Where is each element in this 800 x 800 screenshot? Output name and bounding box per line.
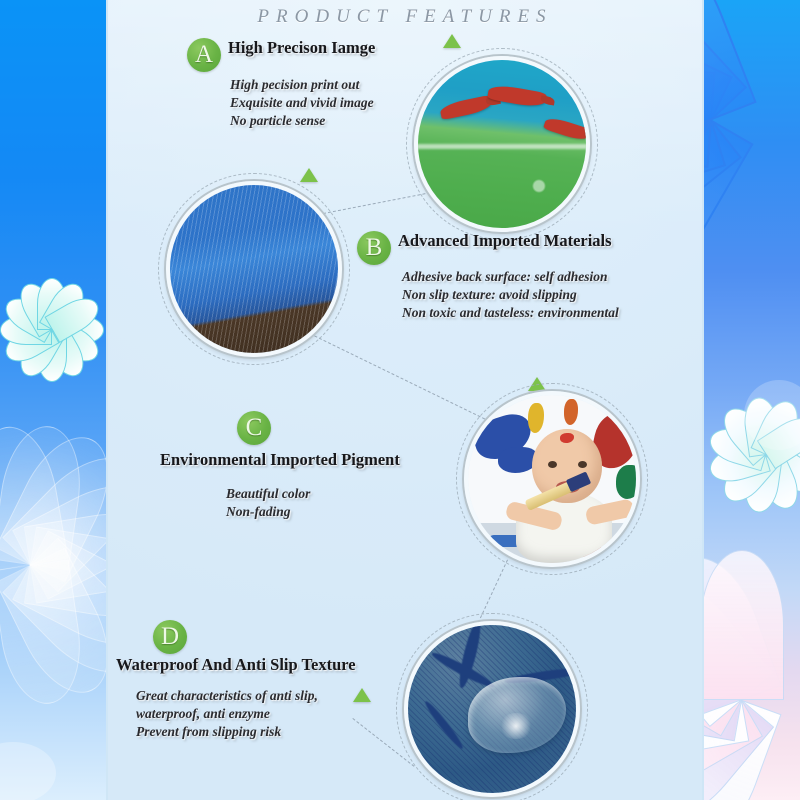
- photo-c-image: [468, 395, 636, 563]
- arrow-to-photo-b: [300, 168, 318, 182]
- arrow-to-photo-d: [353, 688, 371, 702]
- badge-c: C: [237, 411, 271, 445]
- feature-lines-a: High pecision print out Exquisite and vi…: [230, 76, 374, 130]
- feature-lines-b: Adhesive back surface: self adhesion Non…: [402, 268, 619, 322]
- photo-imported-material-fabric[interactable]: [166, 181, 342, 357]
- feature-title-a: High Precison Iamge: [228, 38, 375, 58]
- feature-title-b: Advanced Imported Materials: [398, 231, 612, 251]
- right-decorative-border: [704, 0, 800, 800]
- petal: [704, 550, 784, 700]
- content-panel: PRODUCT FEATURES A High Precison Iamge H…: [106, 0, 704, 800]
- page-title: PRODUCT FEATURES: [108, 6, 702, 28]
- arrow-to-photo-a: [443, 34, 461, 48]
- photo-a-image: [418, 60, 586, 228]
- feature-lines-c: Beautiful color Non-fading: [226, 485, 310, 521]
- badge-b: B: [357, 231, 391, 265]
- photo-baby-painting[interactable]: [464, 391, 640, 567]
- badge-d: D: [153, 620, 187, 654]
- photo-b-image: [170, 185, 338, 353]
- feature-lines-d: Great characteristics of anti slip, wate…: [136, 687, 318, 741]
- left-decorative-border: [0, 0, 106, 800]
- feature-title-c: Environmental Imported Pigment: [160, 450, 400, 470]
- infographic-root: PRODUCT FEATURES A High Precison Iamge H…: [0, 0, 800, 800]
- photo-high-precision-print[interactable]: [414, 56, 590, 232]
- photo-d-image: [408, 625, 576, 793]
- photo-waterproof-droplet[interactable]: [404, 621, 580, 797]
- feature-title-d: Waterproof And Anti Slip Texture: [116, 655, 356, 675]
- badge-a: A: [187, 38, 221, 72]
